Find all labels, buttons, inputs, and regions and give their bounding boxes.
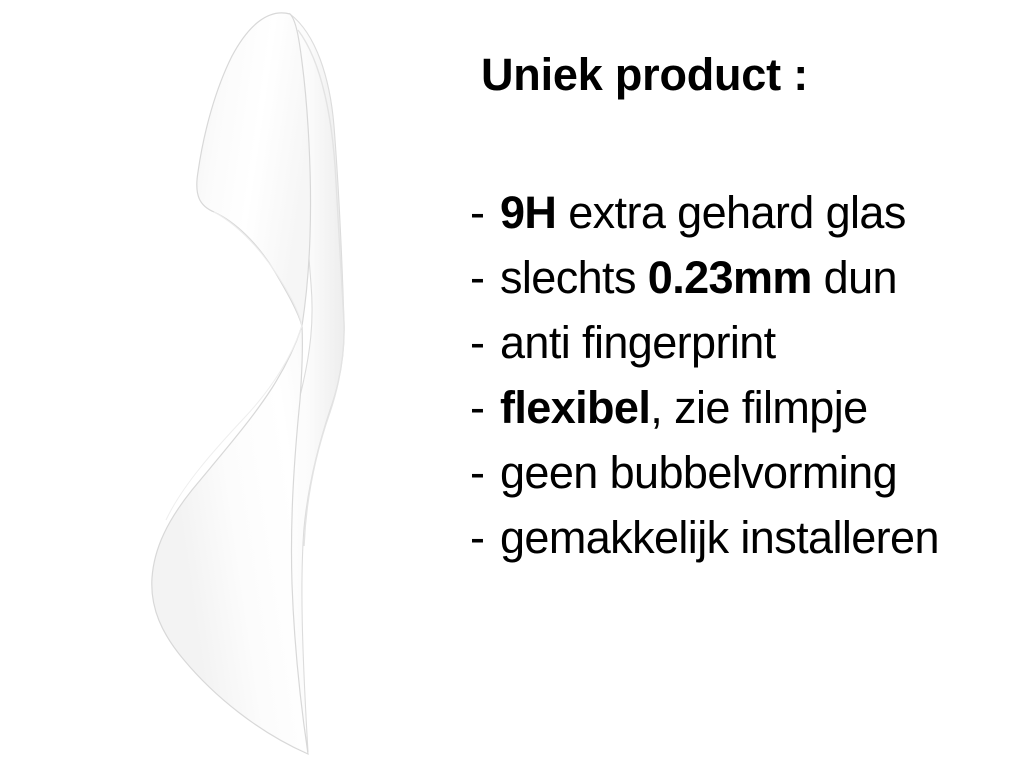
feature-text: dun <box>812 252 897 303</box>
list-item: -9H extra gehard glas <box>470 184 1024 249</box>
list-item: -geen bubbelvorming <box>470 444 1024 509</box>
feature-list: -9H extra gehard glas -slechts 0.23mm du… <box>470 184 1024 574</box>
feature-text-bold: 0.23mm <box>648 252 812 303</box>
feature-text: gemakkelijk installeren <box>500 512 939 563</box>
feature-text: slechts <box>500 252 648 303</box>
bullet-marker: - <box>470 509 500 566</box>
feature-text-bold: 9H <box>500 187 556 238</box>
bullet-marker: - <box>470 184 500 241</box>
feature-text-panel: Uniek product : -9H extra gehard glas -s… <box>470 0 1024 768</box>
list-item: -gemakkelijk installeren <box>470 509 1024 574</box>
feature-text-bold: flexibel <box>500 382 650 433</box>
feature-text: extra gehard glas <box>556 187 905 238</box>
bullet-marker: - <box>470 444 500 501</box>
list-item: -anti fingerprint <box>470 314 1024 379</box>
bullet-marker: - <box>470 249 500 306</box>
list-item: -slechts 0.23mm dun <box>470 249 1024 314</box>
page-title: Uniek product : <box>481 52 808 97</box>
feature-text: anti fingerprint <box>500 317 776 368</box>
product-illustration <box>0 0 460 768</box>
feature-text: geen bubbelvorming <box>500 447 897 498</box>
bullet-marker: - <box>470 379 500 436</box>
product-feature-banner: Uniek product : -9H extra gehard glas -s… <box>0 0 1024 768</box>
feature-text: , zie filmpje <box>650 382 867 433</box>
glass-upper-lobe <box>197 13 311 326</box>
bent-glass-icon <box>0 0 460 768</box>
bullet-marker: - <box>470 314 500 371</box>
glass-lower-lobe <box>152 326 308 754</box>
list-item: -flexibel, zie filmpje <box>470 379 1024 444</box>
